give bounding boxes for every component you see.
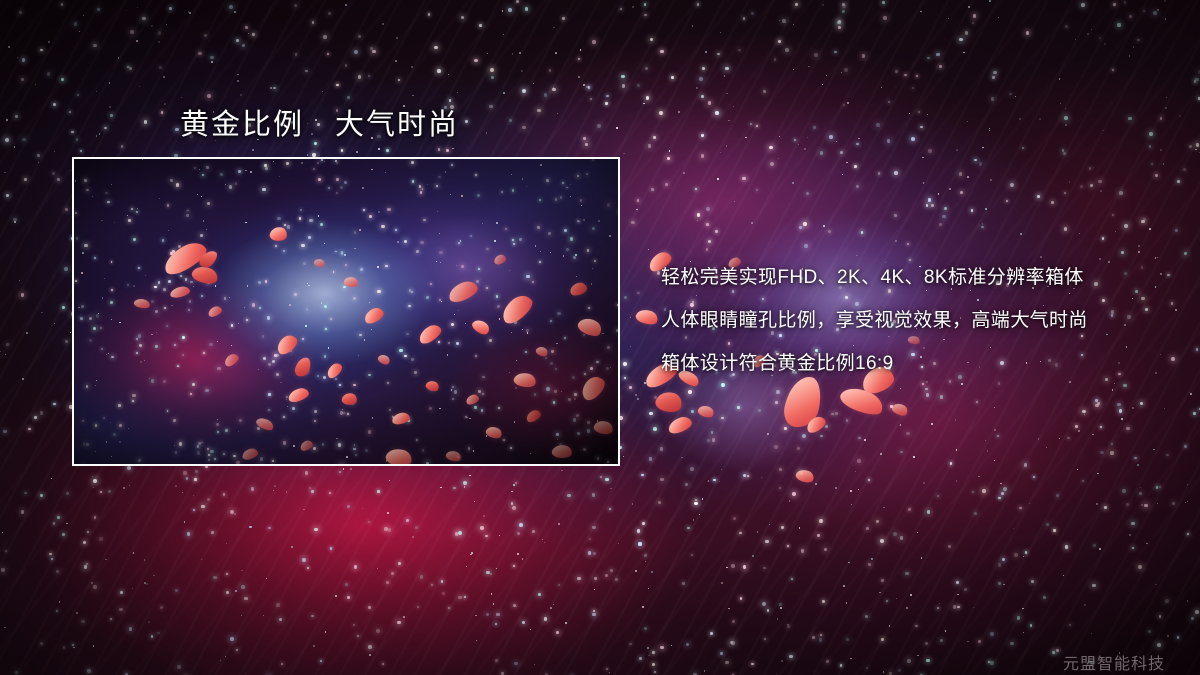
body-text-line-2: 人体眼睛瞳孔比例，享受视觉效果，高端大气时尚 <box>661 299 1181 342</box>
panel-vignette <box>74 159 618 464</box>
body-text-line-3: 箱体设计符合黄金比例16:9 <box>661 342 1181 385</box>
slide-title: 黄金比例 大气时尚 <box>180 101 459 143</box>
petal <box>794 467 815 485</box>
petal <box>634 307 659 328</box>
body-text-line-1: 轻松完美实现FHD、2K、4K、8K标准分辨率箱体 <box>661 256 1181 299</box>
petal <box>890 401 909 419</box>
presentation-slide: 黄金比例 大气时尚 轻松完美实现FHD、2K、4K、8K标准分辨率箱体 人体眼睛… <box>0 0 1200 675</box>
watermark: 元盟智能科技 <box>1063 650 1165 674</box>
petal <box>666 415 693 436</box>
body-text-block: 轻松完美实现FHD、2K、4K、8K标准分辨率箱体 人体眼睛瞳孔比例，享受视觉效… <box>661 256 1181 385</box>
petal <box>654 388 685 415</box>
image-panel <box>72 157 620 466</box>
petal <box>696 403 715 420</box>
